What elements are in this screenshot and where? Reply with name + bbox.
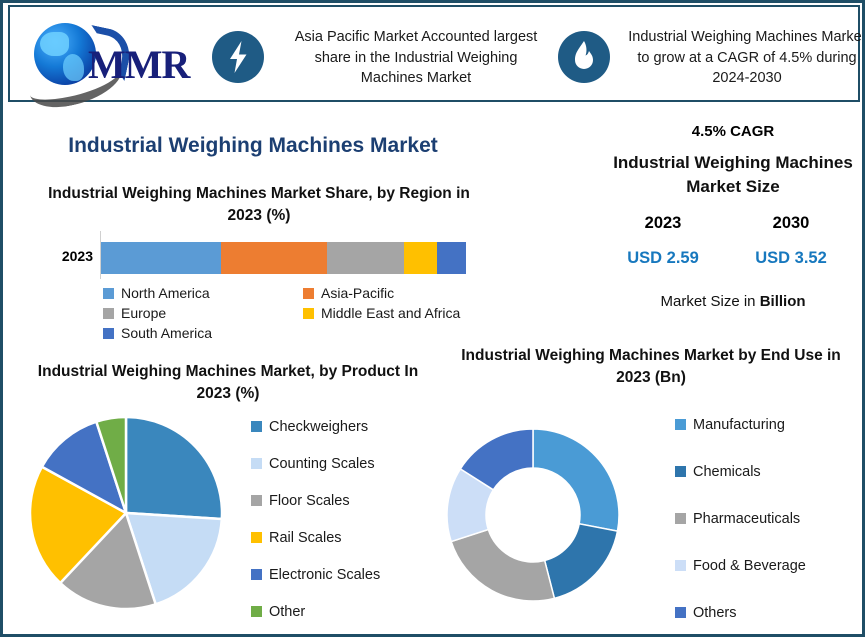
header-text-right: Industrial Weighing Machines Market to g…: [628, 27, 865, 89]
legend-swatch-icon: [675, 560, 686, 571]
legend-label: Rail Scales: [269, 530, 342, 546]
legend-swatch-icon: [103, 328, 114, 339]
bar-segment-middle-east-and-africa: [404, 242, 437, 274]
legend-label: Europe: [121, 305, 166, 321]
legend-label: Checkweighers: [269, 419, 368, 435]
product-chart-title: Industrial Weighing Machines Market, by …: [28, 361, 428, 406]
bar-segment-asia-pacific: [221, 242, 327, 274]
product-chart-legend: CheckweighersCounting ScalesFloor Scales…: [251, 408, 451, 630]
legend-swatch-icon: [675, 419, 686, 430]
slice-manufacturing: Manufacturing 28%: [533, 429, 619, 531]
legend-label: Asia-Pacific: [321, 285, 394, 301]
logo-wordmark: MMR: [88, 41, 189, 88]
legend-row: North AmericaAsia-Pacific: [103, 285, 503, 301]
legend-label: North America: [121, 285, 210, 301]
lightning-bolt-icon: [212, 31, 264, 83]
legend-item-checkweighers[interactable]: Checkweighers: [251, 408, 451, 445]
product-pie-chart: Checkweighers 26%Counting Scales 19%Floo…: [30, 403, 222, 623]
legend-label: Chemicals: [693, 464, 761, 480]
units-bold: Billion: [760, 293, 806, 310]
legend-label: Pharmaceuticals: [693, 511, 800, 527]
legend-swatch-icon: [251, 421, 262, 432]
legend-swatch-icon: [251, 606, 262, 617]
legend-item-counting-scales[interactable]: Counting Scales: [251, 445, 451, 482]
legend-label: Electronic Scales: [269, 567, 380, 583]
slice-chemicals: Chemicals 18%: [545, 524, 618, 598]
region-chart-title: Industrial Weighing Machines Market Shar…: [43, 183, 475, 228]
header-panel: MMR Asia Pacific Market Accounted larges…: [8, 5, 860, 102]
legend-item-others[interactable]: Others: [675, 589, 865, 636]
legend-label: Middle East and Africa: [321, 305, 460, 321]
legend-swatch-icon: [251, 532, 262, 543]
region-chart-legend: North AmericaAsia-PacificEuropeMiddle Ea…: [103, 285, 503, 345]
slice-pharmaceuticals: Pharmaceuticals 24%: [451, 530, 554, 601]
slice-checkweighers: Checkweighers 26%: [126, 417, 222, 519]
bar-segment-north-america: [101, 242, 221, 274]
cagr-label: 4.5% CAGR: [603, 123, 863, 140]
legend-swatch-icon: [675, 466, 686, 477]
legend-item-floor-scales[interactable]: Floor Scales: [251, 482, 451, 519]
end-use-chart-legend: ManufacturingChemicalsPharmaceuticalsFoo…: [675, 401, 865, 636]
legend-label: Floor Scales: [269, 493, 350, 509]
legend-item-rail-scales[interactable]: Rail Scales: [251, 519, 451, 556]
legend-item-manufacturing[interactable]: Manufacturing: [675, 401, 865, 448]
header-text-left: Asia Pacific Market Accounted largest sh…: [282, 27, 550, 89]
market-size-title: Industrial Weighing Machines Market Size: [603, 151, 863, 199]
legend-row: South America: [103, 325, 503, 341]
flame-icon: [558, 31, 610, 83]
legend-swatch-icon: [303, 308, 314, 319]
legend-item-electronic-scales[interactable]: Electronic Scales: [251, 556, 451, 593]
legend-label: Food & Beverage: [693, 558, 806, 574]
region-stacked-bar: [101, 242, 466, 274]
legend-swatch-icon: [675, 607, 686, 618]
legend-swatch-icon: [303, 288, 314, 299]
legend-swatch-icon: [103, 308, 114, 319]
legend-label: Other: [269, 604, 305, 620]
units-prefix: Market Size in: [660, 293, 759, 310]
legend-item-north-america[interactable]: North America: [103, 285, 303, 301]
legend-swatch-icon: [675, 513, 686, 524]
market-size-units: Market Size in Billion: [603, 293, 863, 310]
bar-segment-europe: [327, 242, 404, 274]
end-use-chart-title: Industrial Weighing Machines Market by E…: [451, 345, 851, 390]
legend-label: South America: [121, 325, 212, 341]
end-use-share-svg: Manufacturing 28%Chemicals 18%Pharmaceut…: [447, 391, 619, 637]
legend-swatch-icon: [251, 495, 262, 506]
legend-label: Manufacturing: [693, 417, 785, 433]
legend-item-food-beverage[interactable]: Food & Beverage: [675, 542, 865, 589]
page-title: Industrial Weighing Machines Market: [43, 134, 463, 158]
legend-label: Others: [693, 605, 737, 621]
region-chart-category-label: 2023: [43, 248, 93, 264]
bar-segment-south-america: [437, 242, 466, 274]
infographic-page: MMR Asia Pacific Market Accounted larges…: [0, 0, 865, 637]
market-size-base-value: USD 2.59: [608, 249, 718, 268]
legend-item-pharmaceuticals[interactable]: Pharmaceuticals: [675, 495, 865, 542]
product-share-svg: Checkweighers 26%Counting Scales 19%Floo…: [30, 403, 222, 623]
legend-item-south-america[interactable]: South America: [103, 325, 303, 341]
legend-item-chemicals[interactable]: Chemicals: [675, 448, 865, 495]
end-use-donut-chart: Manufacturing 28%Chemicals 18%Pharmaceut…: [447, 391, 619, 637]
market-size-base-year: 2023: [608, 214, 718, 233]
legend-swatch-icon: [251, 458, 262, 469]
market-size-forecast-value: USD 3.52: [736, 249, 846, 268]
market-size-forecast-year: 2030: [736, 214, 846, 233]
legend-label: Counting Scales: [269, 456, 375, 472]
legend-item-asia-pacific[interactable]: Asia-Pacific: [303, 285, 503, 301]
mmr-logo: MMR: [20, 15, 200, 95]
legend-row: EuropeMiddle East and Africa: [103, 305, 503, 321]
legend-swatch-icon: [103, 288, 114, 299]
legend-item-other[interactable]: Other: [251, 593, 451, 630]
legend-swatch-icon: [251, 569, 262, 580]
legend-item-europe[interactable]: Europe: [103, 305, 303, 321]
legend-item-middle-east-and-africa[interactable]: Middle East and Africa: [303, 305, 503, 321]
